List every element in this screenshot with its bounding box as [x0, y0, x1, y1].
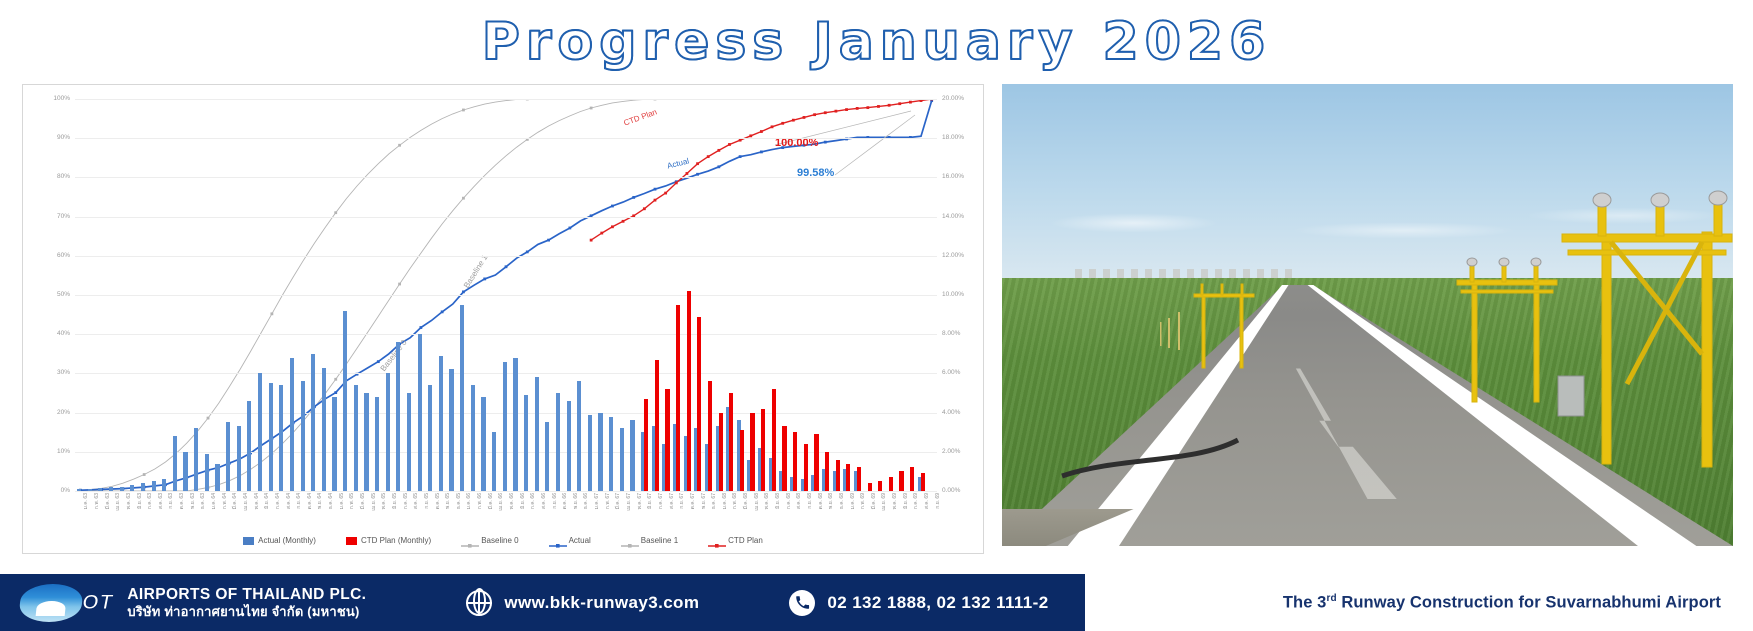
x-axis-tick-label: ก.ย. 66: [551, 493, 559, 509]
chart-bar: [152, 481, 156, 491]
chart-bar: [396, 342, 400, 491]
chart-bar: [772, 389, 776, 491]
x-axis-tick-label: ก.พ. 68: [731, 493, 739, 509]
legend-swatch-line: [549, 537, 565, 545]
chart-bar: [567, 401, 571, 491]
x-axis-tick-label: ม.ค. 69: [849, 493, 857, 509]
x-axis-tick-label: ก.พ. 64: [221, 493, 229, 509]
chart-bar: [332, 397, 336, 491]
legend-label: CTD Plan (Monthly): [361, 536, 431, 545]
chart-bar: [697, 317, 701, 491]
legend-item[interactable]: CTD Plan (Monthly): [346, 536, 431, 545]
x-axis-tick-label: ม.ค. 67: [593, 493, 601, 509]
chart-marker: [845, 108, 848, 111]
chart-marker: [334, 211, 337, 214]
x-axis-tick-label: ก.ค. 67: [657, 493, 665, 509]
chart-marker: [813, 113, 816, 116]
gridline: [75, 177, 937, 178]
chart-bar: [535, 377, 539, 491]
chart-marker: [739, 155, 742, 158]
x-axis-tick-label: ก.ค. 64: [274, 493, 282, 509]
chart-bar: [439, 356, 443, 491]
chart-bar: [428, 385, 432, 491]
y-axis-left-tick: 80%: [57, 174, 70, 181]
chart-bar: [301, 381, 305, 491]
chart-marker: [749, 134, 752, 137]
x-axis-tick-label: ก.ค. 63: [146, 493, 154, 509]
chart-bar: [237, 426, 241, 491]
gridline: [75, 334, 937, 335]
chart-marker: [600, 232, 603, 235]
chart-bar: [556, 393, 560, 491]
chart-marker: [824, 111, 827, 114]
phone-icon: [789, 590, 815, 616]
x-axis-tick-label: ต.ค. 65: [434, 493, 442, 509]
chart-marker: [696, 173, 699, 176]
chart-marker: [877, 105, 880, 108]
chart-marker: [441, 310, 444, 313]
x-axis-tick-label: ต.ค. 68: [817, 493, 825, 509]
chart-bar: [921, 473, 925, 491]
chart-bar: [708, 381, 712, 491]
chart-bar: [793, 432, 797, 491]
x-axis-tick-label: ก.ค. 65: [402, 493, 410, 509]
x-axis-tick-label: ม.ค. 64: [210, 493, 218, 509]
x-axis-tick-label: ก.ค. 68: [785, 493, 793, 509]
chart-marker: [568, 227, 571, 230]
chart-bar: [719, 413, 723, 491]
y-axis-left-tick: 100%: [53, 96, 70, 103]
x-axis-tick-label: ก.พ. 65: [348, 493, 356, 509]
legend-item[interactable]: Actual (Monthly): [243, 536, 316, 545]
chart-marker: [143, 473, 146, 476]
chart-bar: [258, 373, 262, 491]
x-axis-tick-label: มิ.ย. 68: [774, 493, 782, 509]
y-axis-right-tick: 16.00%: [942, 174, 964, 181]
photo-approach-light-gantries: [1002, 84, 1733, 546]
y-axis-right-tick: 6.00%: [942, 370, 960, 377]
chart-bar: [269, 383, 273, 491]
chart-marker: [462, 197, 465, 200]
chart-bar: [215, 464, 219, 491]
chart-bar: [513, 358, 517, 491]
chart-marker: [377, 360, 380, 363]
chart-marker: [664, 192, 667, 195]
chart-marker: [483, 278, 486, 281]
chart-bar: [471, 385, 475, 491]
x-axis-tick-label: มี.ค. 68: [742, 493, 750, 509]
x-axis-tick-label: ก.ย. 63: [167, 493, 175, 509]
gridline: [75, 295, 937, 296]
chart-bar: [449, 369, 453, 491]
chart-bar: [814, 434, 818, 491]
x-axis-tick-label: มิ.ย. 63: [136, 493, 144, 509]
chart-marker: [590, 239, 593, 242]
chart-bar: [109, 487, 113, 491]
y-axis-left-tick: 70%: [57, 213, 70, 220]
x-axis-tick-label: พ.ย. 67: [700, 493, 708, 509]
x-axis-tick-label: มิ.ย. 67: [646, 493, 654, 509]
legend-label: Baseline 1: [641, 536, 678, 545]
legend-swatch-box: [346, 537, 357, 545]
chart-marker: [696, 162, 699, 165]
footer-website-group[interactable]: www.bkk-runway3.com: [466, 590, 699, 616]
x-axis-tick-label: มี.ค. 69: [870, 493, 878, 509]
chart-marker: [856, 107, 859, 110]
chart-bar: [183, 452, 187, 491]
legend-swatch-line: [461, 537, 477, 545]
chart-marker: [888, 104, 891, 107]
chart-marker: [334, 378, 337, 381]
chart-marker: [654, 199, 657, 202]
footer-website-link[interactable]: www.bkk-runway3.com: [504, 593, 699, 613]
x-axis-tick-label: ธ.ค. 67: [710, 493, 718, 509]
chart-legend: Actual (Monthly)CTD Plan (Monthly)Baseli…: [23, 536, 983, 545]
chart-bar: [386, 373, 390, 491]
x-axis-tick-label: ส.ค. 67: [668, 493, 676, 509]
x-axis-tick-label: ธ.ค. 68: [838, 493, 846, 509]
chart-x-axis-labels: ม.ค. 63ก.พ. 63มี.ค. 63เม.ย. 63พ.ค. 63มิ.…: [75, 493, 937, 537]
chart-bar: [630, 420, 634, 491]
x-axis-tick-label: ส.ค. 65: [412, 493, 420, 509]
x-axis-tick-label: ก.ย. 69: [934, 493, 942, 509]
y-axis-left-tick: 20%: [57, 409, 70, 416]
chart-bar: [655, 360, 659, 491]
chart-marker: [728, 143, 731, 146]
chart-bar: [247, 401, 251, 491]
chart-marker: [654, 188, 657, 191]
chart-marker: [207, 417, 210, 420]
x-axis-tick-label: เม.ย. 65: [370, 493, 378, 511]
chart-bar: [407, 393, 411, 491]
chart-bar: [620, 428, 624, 491]
chart-bar: [460, 305, 464, 491]
x-axis-tick-label: มิ.ย. 64: [263, 493, 271, 509]
chart-bar: [226, 422, 230, 491]
x-axis-tick-label: พ.ค. 67: [636, 493, 644, 509]
chart-bar: [729, 393, 733, 491]
x-axis-tick-label: พ.ค. 66: [508, 493, 516, 509]
chart-bar: [481, 397, 485, 491]
gridline: [75, 99, 937, 100]
x-axis-tick-label: มิ.ย. 65: [391, 493, 399, 509]
chart-marker: [760, 130, 763, 133]
y-axis-left-tick: 30%: [57, 370, 70, 377]
main-content-row: Baseline 0 Baseline 1 CTD Plan Actual 10…: [0, 84, 1753, 574]
x-axis-tick-label: มี.ค. 64: [231, 493, 239, 509]
y-axis-right-tick: 18.00%: [942, 135, 964, 142]
chart-marker: [419, 326, 422, 329]
legend-item[interactable]: Baseline 1: [621, 536, 678, 545]
x-axis-tick-label: ก.พ. 67: [604, 493, 612, 509]
x-axis-tick-label: เม.ย. 66: [497, 493, 505, 511]
aot-org-name-en: AIRPORTS OF THAILAND PLC.: [127, 586, 366, 604]
x-axis-tick-label: เม.ย. 63: [114, 493, 122, 511]
x-axis-tick-label: เม.ย. 69: [880, 493, 888, 511]
y-axis-right-tick: 10.00%: [942, 292, 964, 299]
chart-bar: [205, 454, 209, 491]
chart-bar: [311, 354, 315, 491]
chart-bar: [836, 460, 840, 491]
chart-marker: [398, 283, 401, 286]
chart-marker: [803, 116, 806, 119]
chart-marker: [717, 165, 720, 168]
chart-marker: [866, 106, 869, 109]
chart-bar: [868, 483, 872, 491]
x-axis-tick-label: มี.ค. 65: [359, 493, 367, 509]
chart-bar: [279, 385, 283, 491]
chart-marker: [632, 196, 635, 199]
chart-bar: [545, 422, 549, 491]
project-title: The 3rd Runway Construction for Suvarnab…: [1283, 593, 1721, 613]
chart-marker: [717, 149, 720, 152]
progress-s-curve-chart: Baseline 0 Baseline 1 CTD Plan Actual 10…: [22, 84, 984, 554]
chart-bar: [88, 489, 92, 491]
chart-bar: [503, 362, 507, 491]
legend-item[interactable]: CTD Plan: [708, 536, 763, 545]
chart-marker: [643, 207, 646, 210]
chart-marker: [781, 122, 784, 125]
y-axis-left-tick: 90%: [57, 135, 70, 142]
chart-bar: [173, 436, 177, 491]
chart-bar: [878, 481, 882, 491]
chart-marker: [622, 220, 625, 223]
footer-project-bar: The 3rd Runway Construction for Suvarnab…: [1085, 574, 1753, 631]
chart-marker: [771, 125, 774, 128]
chart-bar: [687, 291, 691, 491]
x-axis-tick-label: พ.ค. 65: [380, 493, 388, 509]
chart-marker: [590, 107, 593, 110]
chart-bar: [782, 426, 786, 491]
x-axis-tick-label: มี.ค. 67: [614, 493, 622, 509]
x-axis-tick-label: ส.ค. 66: [540, 493, 548, 509]
chart-marker: [686, 172, 689, 175]
chart-bar: [846, 464, 850, 491]
y-axis-right-tick: 4.00%: [942, 409, 960, 416]
x-axis-tick-label: ส.ค. 68: [795, 493, 803, 509]
chart-bar: [676, 305, 680, 491]
x-axis-tick-label: ม.ค. 63: [82, 493, 90, 509]
x-axis-tick-label: พ.ย. 65: [444, 493, 452, 509]
chart-bar: [889, 477, 893, 491]
footer-phone-number[interactable]: 02 132 1888, 02 132 1111-2: [827, 593, 1048, 613]
chart-marker: [334, 391, 337, 394]
x-axis-tick-label: ก.ย. 64: [295, 493, 303, 509]
chart-bar: [804, 444, 808, 491]
x-axis-tick-label: ก.ย. 65: [423, 493, 431, 509]
chart-bar: [162, 479, 166, 491]
chart-bar: [644, 399, 648, 491]
legend-label: Actual: [569, 536, 591, 545]
chart-bar: [354, 385, 358, 491]
chart-bar: [77, 489, 81, 491]
y-axis-left-tick: 10%: [57, 449, 70, 456]
x-axis-tick-label: ต.ค. 64: [306, 493, 314, 509]
x-axis-tick-label: ธ.ค. 64: [327, 493, 335, 509]
legend-item[interactable]: Baseline 0: [461, 536, 518, 545]
chart-bar: [194, 428, 198, 491]
aot-logo-icon: [18, 584, 84, 622]
y-axis-left-tick: 0%: [61, 488, 70, 495]
chart-marker: [824, 141, 827, 144]
y-axis-left-tick: 40%: [57, 331, 70, 338]
y-axis-right-tick: 0.00%: [942, 488, 960, 495]
legend-swatch-line: [708, 537, 724, 545]
chart-marker: [835, 110, 838, 113]
x-axis-tick-label: มี.ค. 66: [487, 493, 495, 509]
x-axis-tick-label: มิ.ย. 66: [519, 493, 527, 509]
x-axis-tick-label: เม.ย. 67: [625, 493, 633, 511]
x-axis-tick-label: ต.ค. 67: [689, 493, 697, 509]
chart-bar: [750, 413, 754, 491]
chart-marker: [526, 250, 529, 253]
gridline: [75, 138, 937, 139]
legend-label: Baseline 0: [481, 536, 518, 545]
chart-marker: [462, 109, 465, 112]
chart-marker: [792, 119, 795, 122]
chart-marker: [611, 205, 614, 208]
x-axis-tick-label: พ.ย. 66: [572, 493, 580, 509]
x-axis-tick-label: พ.ย. 64: [316, 493, 324, 509]
chart-marker: [462, 290, 465, 293]
project-title-rest: Runway Construction for Suvarnabhumi Air…: [1337, 593, 1721, 611]
chart-bar: [857, 467, 861, 491]
chart-plot-area: Baseline 0 Baseline 1 CTD Plan Actual 10…: [75, 99, 937, 491]
chart-bar: [130, 485, 134, 491]
chart-bar: [577, 381, 581, 491]
globe-icon: [466, 590, 492, 616]
chart-bar: [598, 413, 602, 491]
runway-photo: [1002, 84, 1733, 546]
x-axis-tick-label: ธ.ค. 66: [582, 493, 590, 509]
x-axis-tick-label: ธ.ค. 63: [199, 493, 207, 509]
aot-org-name-th: บริษัท ท่าอากาศยานไทย จำกัด (มหาชน): [127, 604, 366, 620]
chart-marker: [909, 101, 912, 104]
title-bar: Progress January 2026: [0, 0, 1753, 84]
chart-marker: [270, 312, 273, 315]
chart-bar: [343, 311, 347, 491]
x-axis-tick-label: ก.ย. 67: [678, 493, 686, 509]
y-axis-right-tick: 8.00%: [942, 331, 960, 338]
x-axis-tick-label: พ.ค. 64: [253, 493, 261, 509]
x-axis-tick-label: พ.ย. 63: [189, 493, 197, 509]
x-axis-tick-label: พ.ย. 68: [827, 493, 835, 509]
chart-bar: [524, 395, 528, 491]
legend-label: Actual (Monthly): [258, 536, 316, 545]
x-axis-tick-label: พ.ค. 63: [125, 493, 133, 509]
chart-bar: [418, 334, 422, 491]
x-axis-tick-label: ก.พ. 63: [93, 493, 101, 509]
x-axis-tick-label: ส.ค. 63: [157, 493, 165, 509]
x-axis-tick-label: ต.ค. 63: [178, 493, 186, 509]
chart-bar: [910, 467, 914, 491]
gridline: [75, 256, 937, 257]
chart-bar: [740, 430, 744, 491]
legend-item[interactable]: Actual: [549, 536, 591, 545]
y-axis-right-tick: 14.00%: [942, 213, 964, 220]
footer: AOT AIRPORTS OF THAILAND PLC. บริษัท ท่า…: [0, 574, 1753, 631]
page-title: Progress January 2026: [482, 12, 1272, 72]
chart-marker: [505, 265, 508, 268]
chart-marker: [398, 144, 401, 147]
chart-bar: [98, 488, 102, 491]
aot-org-name: AIRPORTS OF THAILAND PLC. บริษัท ท่าอากา…: [127, 586, 366, 619]
x-axis-tick-label: ก.ค. 66: [529, 493, 537, 509]
x-axis-tick-label: ต.ค. 66: [561, 493, 569, 509]
x-axis-tick-label: ส.ค. 64: [285, 493, 293, 509]
chart-bar: [290, 358, 294, 491]
x-axis-tick-label: ก.ย. 68: [806, 493, 814, 509]
chart-bar: [492, 432, 496, 491]
chart-marker: [611, 225, 614, 228]
y-axis-left-tick: 60%: [57, 253, 70, 260]
x-axis-tick-label: พ.ค. 69: [891, 493, 899, 509]
chart-bar: [375, 397, 379, 491]
chart-bar: [665, 389, 669, 491]
chart-marker: [675, 181, 678, 184]
x-axis-tick-label: ม.ค. 68: [721, 493, 729, 509]
project-title-prefix: The 3: [1283, 593, 1327, 611]
chart-bar: [141, 483, 145, 491]
x-axis-tick-label: ก.ค. 69: [912, 493, 920, 509]
x-axis-tick-label: พ.ค. 68: [763, 493, 771, 509]
chart-marker: [707, 155, 710, 158]
x-axis-tick-label: มี.ค. 63: [104, 493, 112, 509]
chart-bar: [322, 368, 326, 491]
gridline: [75, 217, 937, 218]
footer-phone-group[interactable]: 02 132 1888, 02 132 1111-2: [789, 590, 1048, 616]
chart-bar: [899, 471, 903, 491]
legend-swatch-line: [621, 537, 637, 545]
x-axis-tick-label: มิ.ย. 69: [902, 493, 910, 509]
y-axis-right-tick: 12.00%: [942, 253, 964, 260]
chart-bar: [609, 417, 613, 491]
legend-swatch-box: [243, 537, 254, 545]
chart-marker: [760, 151, 763, 154]
y-axis-right-tick: 20.00%: [942, 96, 964, 103]
chart-bar: [825, 452, 829, 491]
y-axis-right-tick: 2.00%: [942, 449, 960, 456]
chart-bar: [120, 487, 124, 491]
chart-bar: [364, 393, 368, 491]
x-axis-tick-label: ม.ค. 66: [465, 493, 473, 509]
x-axis-tick-label: ส.ค. 69: [923, 493, 931, 509]
x-axis-tick-label: ม.ค. 65: [338, 493, 346, 509]
chart-marker: [547, 239, 550, 242]
footer-contact-bar: AOT AIRPORTS OF THAILAND PLC. บริษัท ท่า…: [0, 574, 1085, 631]
chart-marker: [898, 102, 901, 105]
callout-leader-line: [835, 115, 915, 175]
x-axis-tick-label: เม.ย. 68: [753, 493, 761, 511]
x-axis-tick-label: ก.พ. 66: [476, 493, 484, 509]
chart-bar: [588, 415, 592, 491]
x-axis-tick-label: ก.พ. 69: [859, 493, 867, 509]
project-title-ordinal: rd: [1326, 593, 1336, 604]
x-axis-tick-label: เม.ย. 64: [242, 493, 250, 511]
y-axis-left-tick: 50%: [57, 292, 70, 299]
chart-bar: [761, 409, 765, 491]
x-axis-tick-label: ธ.ค. 65: [455, 493, 463, 509]
legend-label: CTD Plan: [728, 536, 763, 545]
